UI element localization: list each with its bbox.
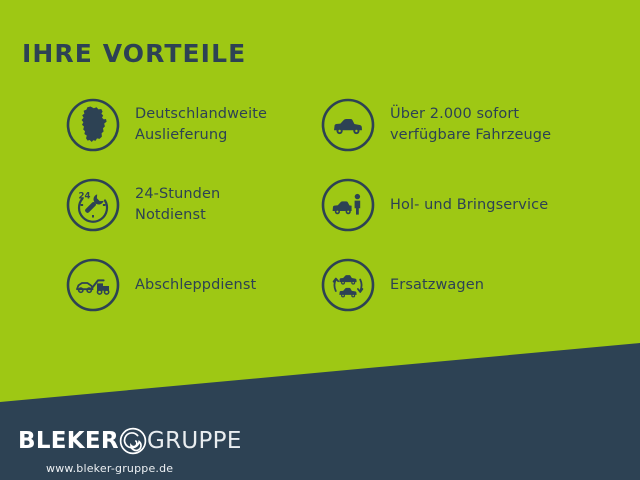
feature-item-label: 24-Stunden Notdienst [135,184,220,225]
feature-item-ersatzwagen: Ersatzwagen [320,257,484,313]
feature-item-hol-und-bringservice: Hol- und Bringservice [320,177,548,233]
feature-item-label: Ersatzwagen [390,275,484,296]
tow-truck-icon [65,257,121,313]
feature-item-abschleppdienst: Abschleppdienst [65,257,256,313]
feature-item-label: Deutschlandweite Auslieferung [135,104,267,145]
brand-name-gruppe: GRUPPE [147,430,242,453]
two-cars-exchange-icon [320,257,376,313]
svg-text:24: 24 [79,192,91,202]
footer-logo-block: BLEKER GRUPPE www.bleker-gruppe.de [18,425,242,475]
feature-item-deutschlandweite-auslieferung: Deutschlandweite Auslieferung [65,97,267,153]
clock-24h-wrench-icon: 24 [65,177,121,233]
germany-map-icon [65,97,121,153]
slide-canvas: IHRE VORTEILE Deutschlandweite Ausliefer… [0,0,640,480]
feature-item-label: Über 2.000 sofort verfügbare Fahrzeuge [390,104,551,145]
feature-item-24-stunden-notdienst: 24 24-Stunden Notdienst [65,177,220,233]
feature-item-label: Hol- und Bringservice [390,195,548,216]
car-with-person-icon [320,177,376,233]
brand-logo: BLEKER GRUPPE [18,425,242,457]
feature-item-verfuegbare-fahrzeuge: Über 2.000 sofort verfügbare Fahrzeuge [320,97,551,153]
page-title: IHRE VORTEILE [22,39,246,68]
car-icon [320,97,376,153]
feature-item-label: Abschleppdienst [135,275,256,296]
brand-name-bleker: BLEKER [18,430,119,453]
spiral-icon [118,426,148,456]
website-url: www.bleker-gruppe.de [46,462,173,475]
